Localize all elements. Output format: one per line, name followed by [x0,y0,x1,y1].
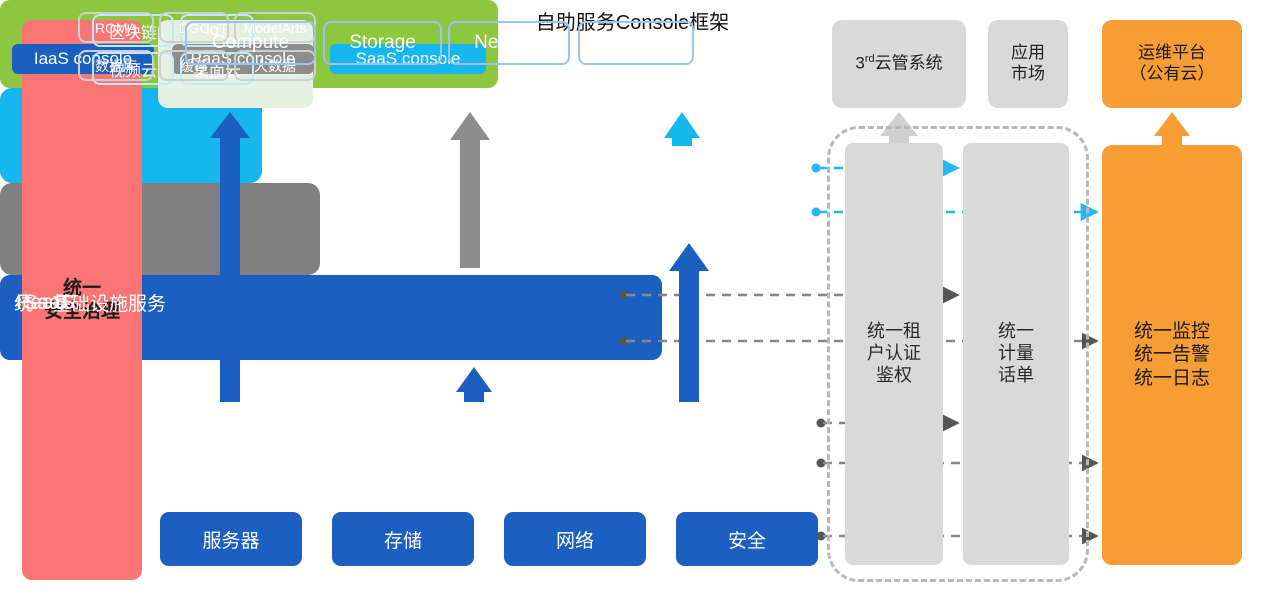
ops-panel-line-1: 统一监控 [1134,320,1210,343]
unified-infrastructure-service-bar[interactable]: 统一基础设施服务 Compute Storage Network CCE [0,275,662,360]
hardware-storage-box[interactable]: 存储 [332,512,474,566]
hardware-network-box[interactable]: 网络 [504,512,646,566]
metering-line-1: 统一 [998,321,1034,343]
auth-line-1: 统一租 [867,321,921,343]
hardware-server-box[interactable]: 服务器 [160,512,302,566]
ops-platform-public-cloud-box[interactable]: 运维平台 （公有云） [1102,20,1242,108]
infra-service-storage[interactable]: Storage [323,21,442,65]
arrow-ops-panel-to-ops-top [1154,112,1190,148]
third-party-label: 云管系统 [875,54,943,73]
arrow-paas-to-console [450,112,490,268]
unified-monitoring-panel[interactable]: 统一监控 统一告警 统一日志 [1102,145,1242,565]
infrastructure-label: 统一基础设施服务 [14,0,166,605]
third-party-superscript: rd [865,53,875,65]
auth-line-3: 鉴权 [867,365,921,387]
app-market-box[interactable]: 应用 市场 [988,20,1068,108]
third-party-prefix: 3 [855,54,864,73]
ops-top-line-1: 运维平台 [1130,43,1215,64]
ops-panel-line-2: 统一告警 [1134,343,1210,366]
infra-service-compute[interactable]: Compute [185,21,316,65]
ops-panel-line-3: 统一日志 [1134,367,1210,390]
architecture-diagram: 统一 安全治理 API网关 自助服务Console框架 IaaS console… [0,0,1265,605]
arrow-infra-to-saas [669,243,709,402]
unified-tenant-auth-column[interactable]: 统一租 户认证 鉴权 [845,143,943,565]
auth-line-2: 户认证 [867,343,921,365]
hardware-security-box[interactable]: 安全 [676,512,818,566]
unified-metering-column[interactable]: 统一 计量 话单 [963,143,1069,565]
arrow-saas-to-console [664,112,700,146]
infra-service-network[interactable]: Network [448,21,570,65]
app-market-line-1: 应用 [1011,43,1045,64]
metering-line-3: 话单 [998,365,1034,387]
app-market-line-2: 市场 [1011,64,1045,85]
arrow-infra-to-paas [456,367,492,402]
third-party-cloud-mgmt-box[interactable]: 3rd云管系统 [832,20,966,108]
infra-service-cce[interactable]: CCE [578,21,694,65]
metering-line-2: 计量 [998,343,1034,365]
ops-top-line-2: （公有云） [1130,64,1215,85]
